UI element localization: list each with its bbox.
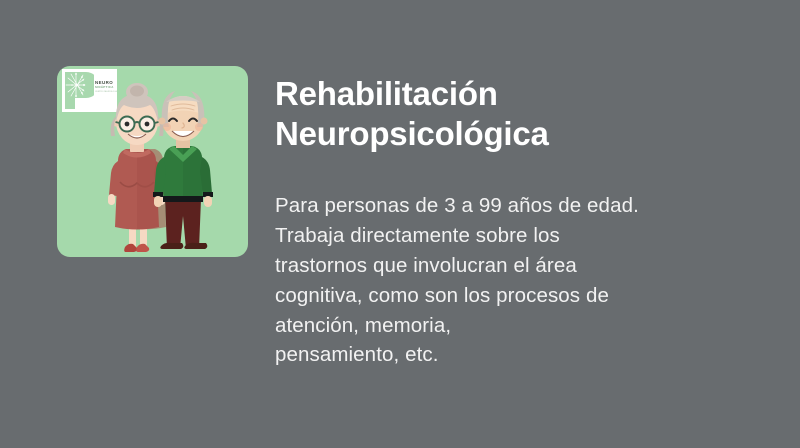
title-line-2: Neuropsicológica (275, 114, 775, 154)
page-title: Rehabilitación Neuropsicológica (275, 74, 775, 154)
description-line-4: cognitiva, como son los procesos de (275, 281, 775, 311)
description-line-2: Trabaja directamente sobre los (275, 221, 775, 251)
description-line-6: pensamiento, etc. (275, 340, 775, 370)
description-line-5: atención, memoria, (275, 311, 775, 341)
description-paragraph: Para personas de 3 a 99 años de edad. Tr… (275, 154, 775, 371)
text-column: Rehabilitación Neuropsicológica Para per… (275, 74, 775, 370)
elderly-couple-figure (57, 66, 248, 257)
title-line-1: Rehabilitación (275, 74, 775, 114)
slide-root: NEURO SINÁPTICA CENTRO NEUROLOGICO TERAP… (0, 0, 800, 448)
elderly-couple-illustration-card: NEURO SINÁPTICA CENTRO NEUROLOGICO TERAP… (57, 66, 248, 257)
description-line-1: Para personas de 3 a 99 años de edad. (275, 191, 775, 221)
description-line-3: trastornos que involucran el área (275, 251, 775, 281)
